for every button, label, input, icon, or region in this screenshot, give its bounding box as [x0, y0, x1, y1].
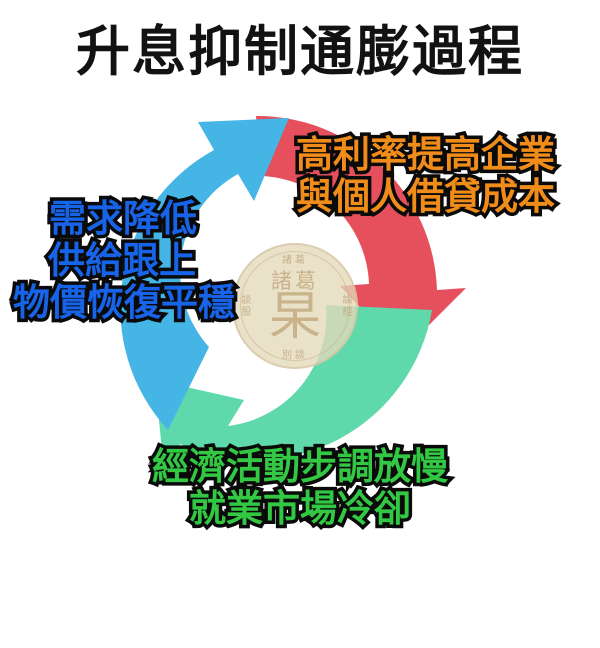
caption-economy-slowdown-line-2: 就業市場冷卻 — [0, 488, 600, 530]
caption-economy-slowdown-line-1: 經濟活動步調放慢 — [0, 446, 600, 488]
page-title: 升息抑制通膨過程 — [0, 22, 600, 81]
caption-demand-drop-line-3: 物價恢復平穩 — [0, 282, 250, 324]
infographic-canvas: 升息抑制通膨過程 諸葛 別談 談股 論經 諸葛 杲 高利率提高企業 與個人借貸成… — [0, 0, 600, 648]
caption-demand-drop-line-1: 需求降低 — [0, 198, 250, 240]
caption-demand-drop: 需求降低 供給跟上 物價恢復平穩 — [0, 198, 250, 323]
caption-economy-slowdown: 經濟活動步調放慢 就業市場冷卻 — [0, 446, 600, 530]
caption-demand-drop-line-2: 供給跟上 — [0, 240, 250, 282]
watermark-ring-top-text: 諸葛 — [282, 251, 308, 266]
watermark-ring-right-text: 論經 — [338, 294, 353, 318]
caption-rate-hike: 高利率提高企業 與個人借貸成本 — [296, 134, 555, 218]
watermark-logo: 諸葛 別談 談股 論經 諸葛 杲 — [232, 243, 358, 369]
caption-rate-hike-line-2: 與個人借貸成本 — [296, 176, 555, 218]
caption-rate-hike-line-1: 高利率提高企業 — [296, 134, 555, 176]
watermark-ring-bottom-text: 別談 — [282, 346, 308, 361]
watermark-glyph: 杲 — [269, 294, 321, 342]
